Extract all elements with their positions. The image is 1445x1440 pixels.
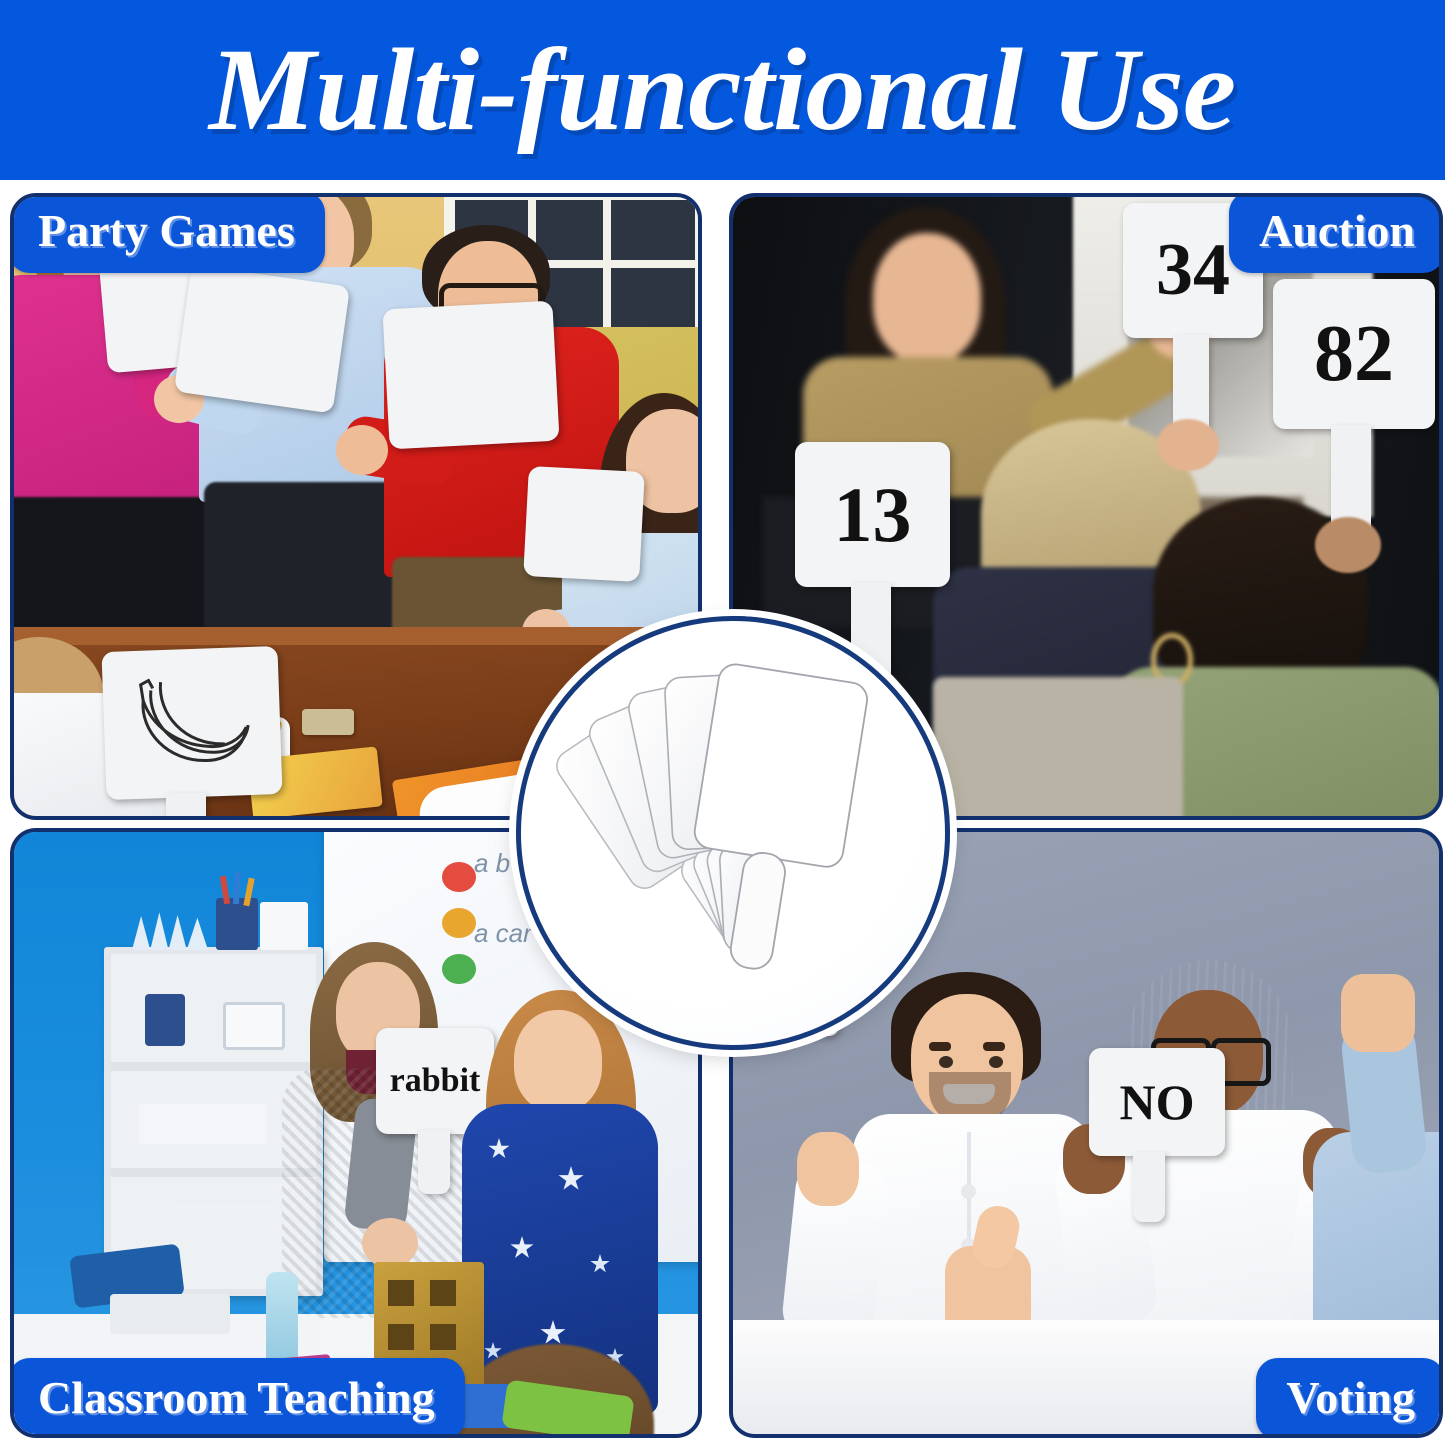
- badge-voting-label: Voting: [1286, 1372, 1415, 1423]
- hand-holding-paddle-82: [1315, 517, 1381, 573]
- paddle-banana-drawing: [101, 646, 282, 800]
- product-highlight-circle: [516, 616, 950, 1050]
- paddle-34-label: 34: [1156, 228, 1230, 313]
- banana-icon: [130, 673, 253, 773]
- supply-box: [223, 1002, 285, 1050]
- paddle-82-label: 82: [1314, 309, 1394, 400]
- keyboard: [110, 1294, 230, 1334]
- whiteboard-line-1: a b: [474, 848, 510, 879]
- badge-auction-label: Auction: [1259, 205, 1415, 256]
- marker-holder: [216, 898, 258, 950]
- badge-party-games-label: Party Games: [38, 205, 295, 256]
- paddle-no: NO: [1089, 1048, 1225, 1156]
- paddle-number-82: 82: [1273, 279, 1435, 429]
- pencil-cup: [145, 994, 185, 1046]
- paddle-handle-no: [1133, 1152, 1165, 1222]
- paddle-handle-rabbit: [418, 1130, 450, 1194]
- paddle-number-13: 13: [795, 442, 950, 587]
- small-box: [260, 902, 308, 950]
- page-title: Multi-functional Use: [209, 31, 1235, 149]
- badge-auction: Auction: [1229, 193, 1443, 273]
- paddle-rabbit-label: rabbit: [390, 1062, 481, 1100]
- whiteboard-eraser: [302, 709, 354, 735]
- paper-stack: [139, 1104, 267, 1144]
- board-magnet-green: [442, 954, 476, 984]
- paddle-fan-illustration: [521, 621, 945, 1045]
- hand-holding-paddle-34: [1157, 419, 1219, 471]
- raised-fist: [1341, 974, 1415, 1052]
- board-magnet-red: [442, 862, 476, 892]
- paddle-no-label: NO: [1120, 1073, 1195, 1131]
- badge-party-games: Party Games: [10, 193, 325, 273]
- infographic-page: Multi-functional Use: [0, 0, 1445, 1440]
- paddle-handle-banana: [166, 793, 206, 816]
- paddle-blank-3: [382, 301, 559, 450]
- badge-classroom-teaching-label: Classroom Teaching: [38, 1372, 435, 1423]
- paper-stack-2: [169, 1204, 279, 1238]
- hand-left-man: [797, 1132, 859, 1206]
- paddle-blank-4: [523, 466, 645, 582]
- board-magnet-orange: [442, 908, 476, 938]
- badge-voting: Voting: [1256, 1358, 1443, 1438]
- header-banner: Multi-functional Use: [0, 0, 1445, 180]
- badge-classroom-teaching: Classroom Teaching: [10, 1358, 465, 1438]
- paddle-blank-2: [174, 264, 350, 413]
- auction-chair: [933, 677, 1183, 816]
- paddle-13-label: 13: [834, 470, 912, 560]
